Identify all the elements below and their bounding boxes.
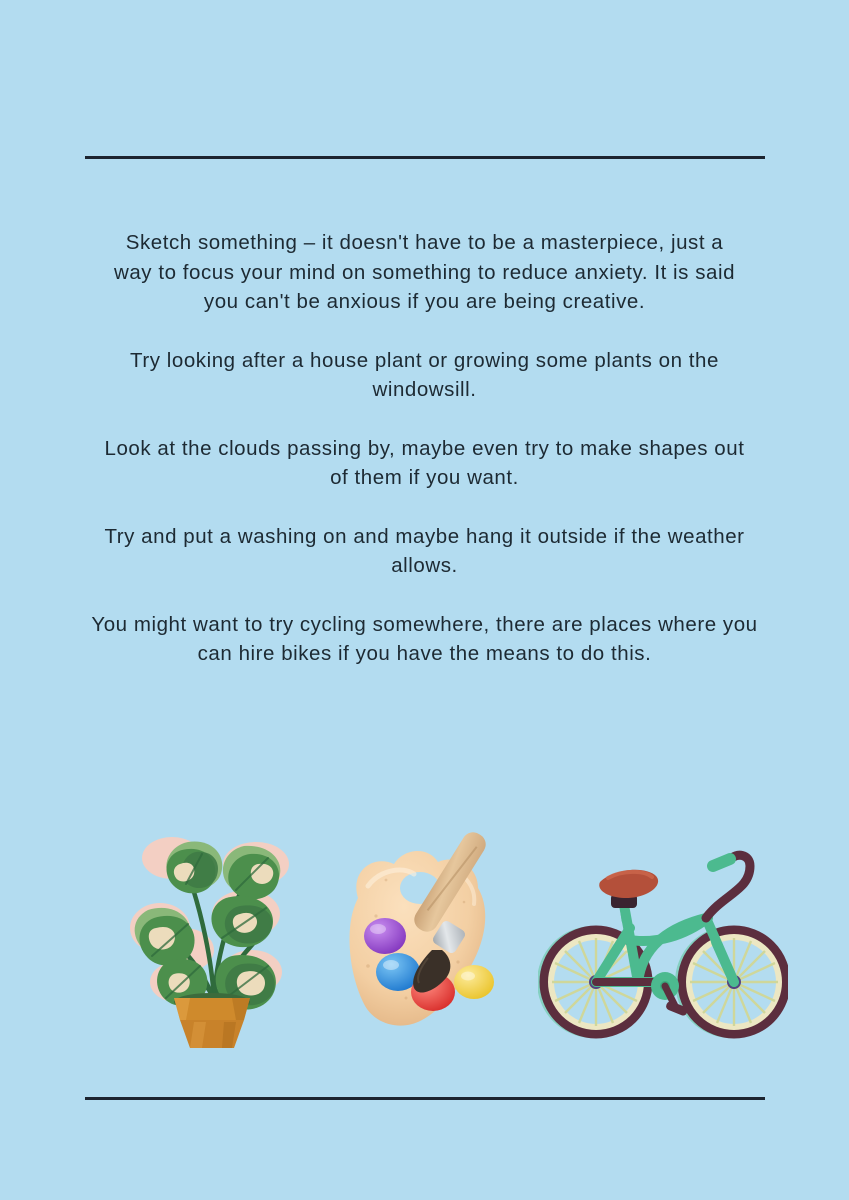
paint-palette-illustration — [328, 832, 510, 1050]
saddle — [599, 870, 658, 920]
top-divider — [85, 156, 765, 159]
tips-list: Sketch something – it doesn't have to be… — [60, 228, 789, 669]
bottom-divider — [85, 1097, 765, 1100]
handlebar — [706, 855, 750, 918]
handlebar-grip — [713, 859, 730, 866]
tip-clouds: Look at the clouds passing by, maybe eve… — [105, 434, 745, 493]
bicycle-illustration — [538, 832, 788, 1050]
tip-cycling: You might want to try cycling somewhere,… — [91, 610, 759, 669]
potted-plant-illustration — [124, 832, 304, 1050]
potted-plant-icon — [124, 832, 304, 1050]
tip-house-plant: Try looking after a house plant or growi… — [112, 346, 737, 405]
page-root: Sketch something – it doesn't have to be… — [0, 0, 849, 1200]
bicycle-frame — [596, 905, 734, 982]
paint-blob-yellow — [454, 965, 494, 999]
tip-washing: Try and put a washing on and maybe hang … — [85, 522, 765, 581]
paint-palette-icon — [328, 832, 510, 1050]
bicycle-icon — [538, 832, 788, 1050]
illustration-strip — [0, 832, 849, 1052]
tip-sketch-something: Sketch something – it doesn't have to be… — [110, 228, 740, 317]
paint-blob-purple — [364, 918, 406, 954]
